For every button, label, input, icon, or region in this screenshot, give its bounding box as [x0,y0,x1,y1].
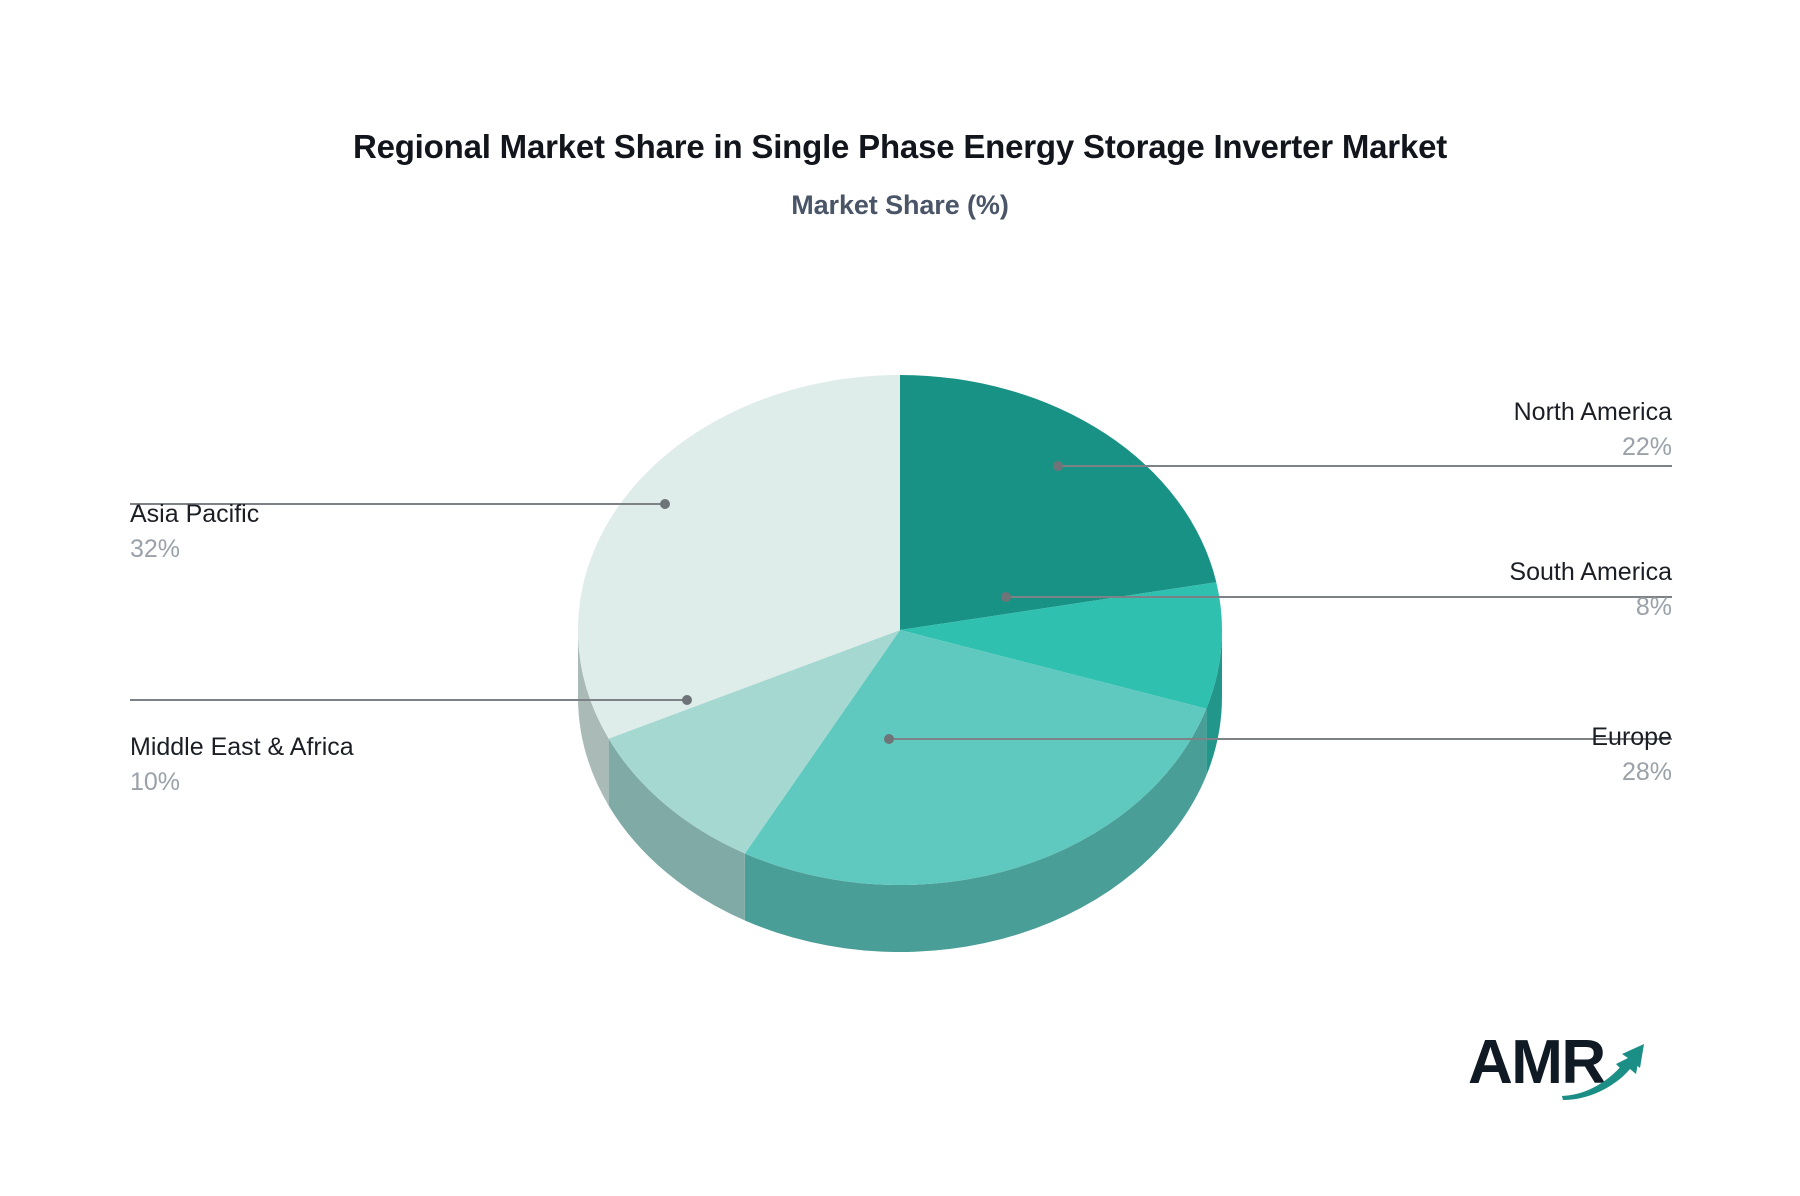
callout-value: 28% [1372,754,1672,790]
callout-value: 22% [1372,429,1672,465]
callout-label: North America [1372,395,1672,429]
callout-middle-east-africa[interactable]: Middle East & Africa 10% [130,730,530,800]
callout-label: Europe [1372,720,1672,754]
callout-value: 10% [130,764,530,800]
callout-europe[interactable]: Europe 28% [1372,720,1672,790]
callout-label: Asia Pacific [130,497,530,531]
callout-south-america[interactable]: South America 8% [1372,555,1672,625]
leader-dot [884,734,894,744]
leader-dot [682,695,692,705]
callout-value: 8% [1372,589,1672,625]
amr-logo: AMR [1468,1030,1648,1108]
leader-dot [660,499,670,509]
chart-canvas: Regional Market Share in Single Phase En… [0,0,1800,1196]
callout-value: 32% [130,531,530,567]
leader-dot [1053,461,1063,471]
callout-asia-pacific[interactable]: Asia Pacific 32% [130,497,530,567]
callout-label: South America [1372,555,1672,589]
pie-slices [578,375,1222,885]
leader-dot [1001,592,1011,602]
growth-arrow-icon [1560,1038,1648,1100]
callout-label: Middle East & Africa [130,730,530,764]
callout-north-america[interactable]: North America 22% [1372,395,1672,465]
